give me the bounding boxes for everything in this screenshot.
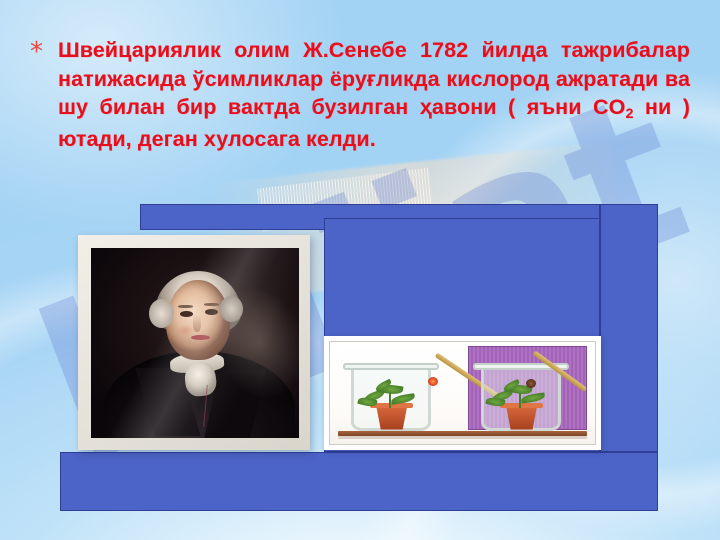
slide-canvas: hujjat	[0, 0, 720, 540]
ember-right	[526, 379, 536, 388]
bullet-asterisk-icon: *	[30, 39, 48, 65]
portrait-frame	[78, 235, 310, 450]
text-block: * Швейцариялик олим Ж.Сенебе 1782 йилда …	[30, 36, 690, 153]
bell-jar-dark	[481, 368, 561, 431]
subscript-two: 2	[625, 106, 633, 122]
bell-jar-light	[351, 368, 431, 431]
experiment-diagram-frame	[324, 336, 601, 450]
body-paragraph: Швейцариялик олим Ж.Сенебе 1782 йилда та…	[58, 36, 690, 153]
portrait-image-jean-senebier	[91, 248, 299, 438]
blue-accent-right-panel	[600, 204, 658, 452]
experiment-diagram-image	[329, 341, 596, 445]
body-text-part1: Швейцариялик олим Ж.Сенебе 1782 йилда та…	[58, 38, 690, 119]
ember-left	[428, 377, 438, 386]
blue-accent-bottom-bar	[60, 452, 658, 511]
bench-surface	[338, 431, 587, 436]
